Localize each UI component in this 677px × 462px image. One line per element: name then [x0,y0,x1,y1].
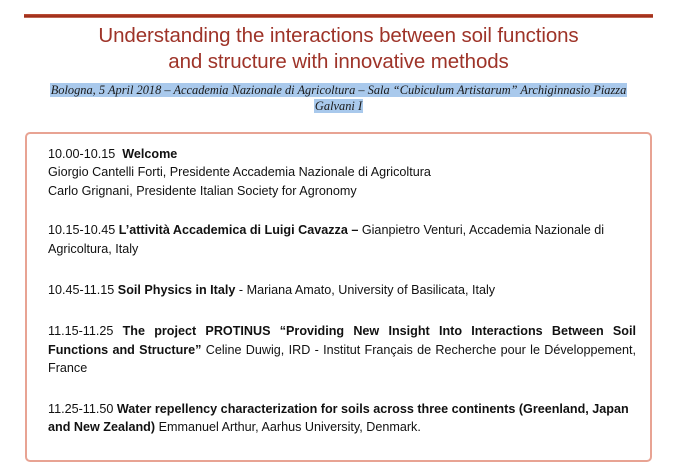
agenda-item-detail-line-2: Carlo Grignani, Presidente Italian Socie… [48,184,357,198]
agenda-list: 10.00-10.15 Welcome Giorgio Cantelli For… [48,145,636,437]
page-title: Understanding the interactions between s… [24,23,653,75]
agenda-item-title: Soil Physics in Italy [118,283,236,297]
agenda-item: 10.45-11.15 Soil Physics in Italy - Mari… [48,281,636,300]
page-title-line-2: and structure with innovative methods [24,49,653,75]
page-title-line-1: Understanding the interactions between s… [24,23,653,49]
agenda-item-detail: Emmanuel Arthur, Aarhus University, Denm… [155,420,421,434]
agenda-item: 10.15-10.45 L’attività Accademica di Lui… [48,221,636,258]
agenda-item: 11.15-11.25 The project PROTINUS “Provid… [48,322,636,378]
agenda-item-title: L’attività Accademica di Luigi Cavazza – [119,223,359,237]
agenda-item-title: Welcome [122,147,177,161]
agenda-item: 11.25-11.50 Water repellency characteriz… [48,400,636,437]
event-venue-subtitle: Bologna, 5 April 2018 – Accademia Nazion… [24,82,653,114]
subtitle-line-1-text: Bologna, 5 April 2018 – Accademia Nazion… [50,83,628,97]
agenda-item-time: 11.15-11.25 [48,324,113,338]
subtitle-line-2-text: Galvani I [314,99,363,113]
agenda-item-detail: - Mariana Amato, University of Basilicat… [235,283,495,297]
agenda-panel: 10.00-10.15 Welcome Giorgio Cantelli For… [25,132,652,462]
agenda-item-time: 11.25-11.50 [48,402,113,416]
header-rule [24,14,653,18]
agenda-item-time: 10.15-10.45 [48,223,115,237]
subtitle-line-2: Galvani I [24,98,653,114]
agenda-item-detail-line-1: Giorgio Cantelli Forti, Presidente Accad… [48,165,431,179]
subtitle-line-1: Bologna, 5 April 2018 – Accademia Nazion… [24,82,653,98]
agenda-item-time: 10.00-10.15 [48,147,115,161]
agenda-item-time: 10.45-11.15 [48,283,114,297]
agenda-item: 10.00-10.15 Welcome Giorgio Cantelli For… [48,145,636,200]
